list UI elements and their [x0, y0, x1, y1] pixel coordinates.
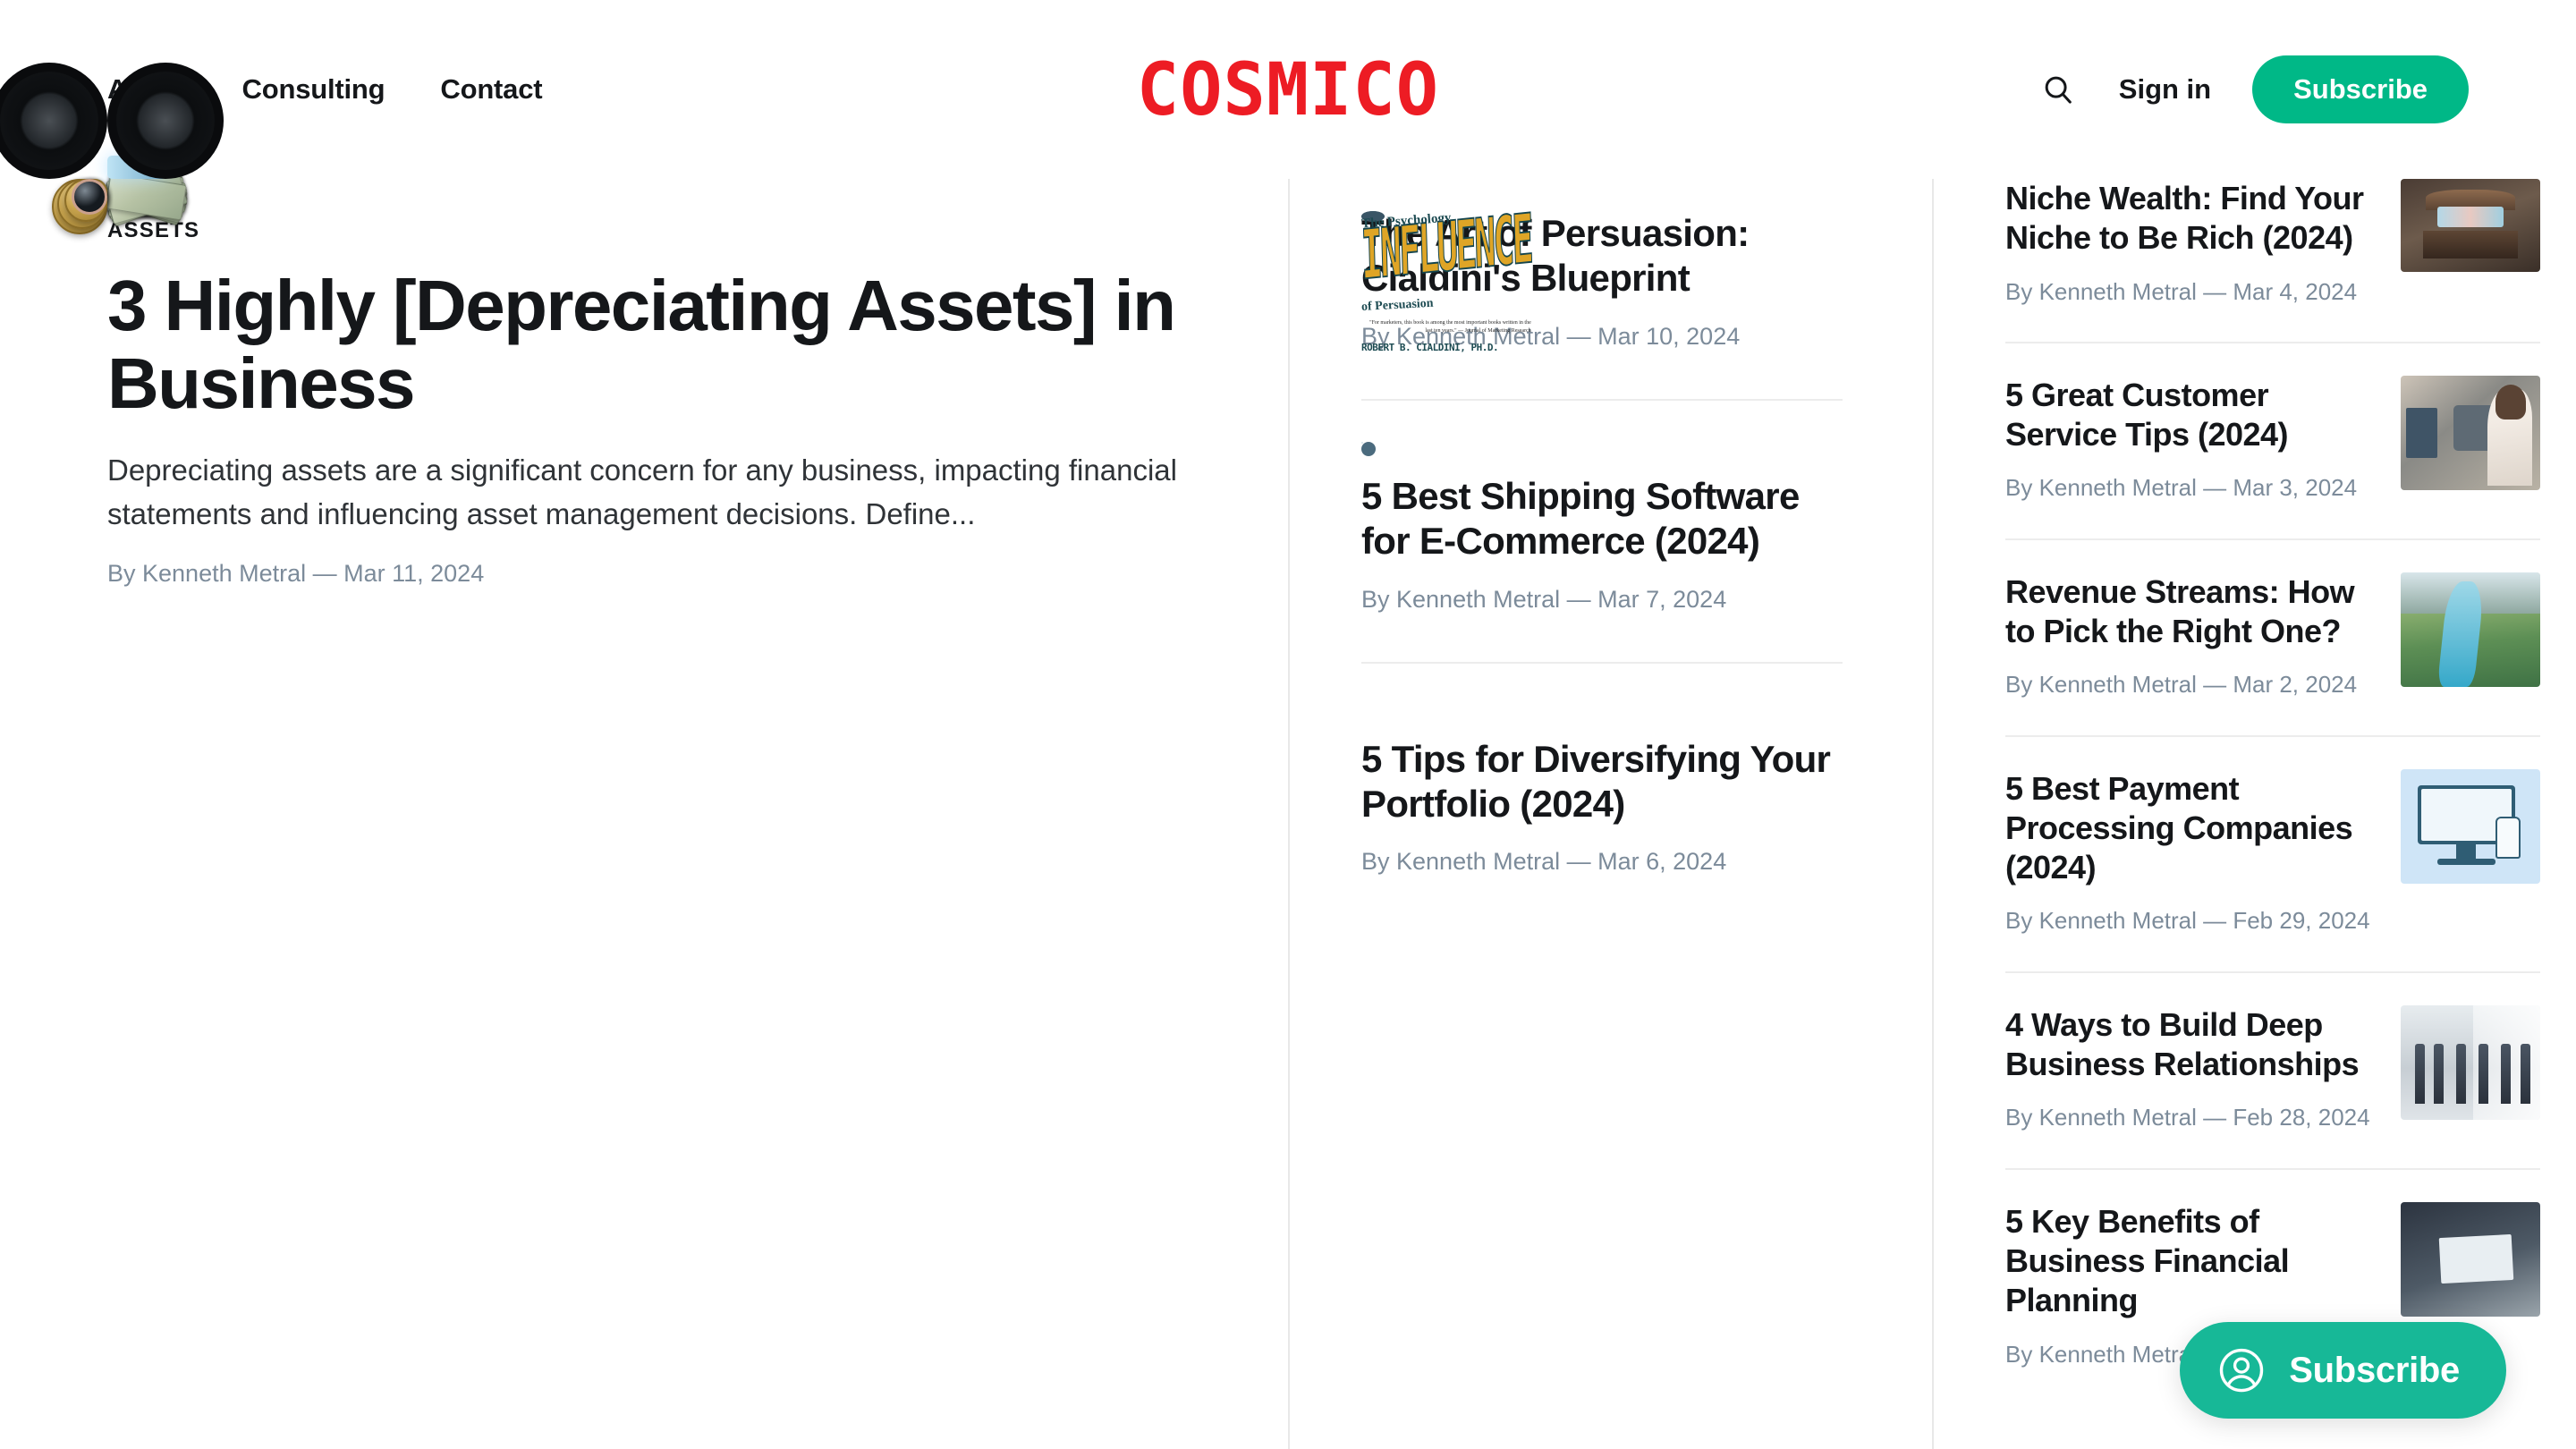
signin-link[interactable]: Sign in	[2119, 73, 2211, 106]
content-grid: $ $ $ $ $ $ $ $ $ $ $	[0, 179, 2576, 1449]
featured-article-excerpt: Depreciating assets are a significant co…	[107, 449, 1216, 537]
article-title[interactable]: 5 Tips for Diversifying Your Portfolio (…	[1361, 737, 1843, 827]
sidebar-article-meta: By Kenneth Metral — Mar 3, 2024	[2005, 472, 2370, 504]
sidebar-article-title[interactable]: Niche Wealth: Find Your Niche to Be Rich…	[2005, 179, 2370, 258]
nav-item-consulting[interactable]: Consulting	[242, 73, 386, 106]
sidebar-article-meta: By Kenneth Metral — Feb 29, 2024	[2005, 905, 2370, 936]
featured-article-title[interactable]: 3 Highly [Depreciating Assets] in Busine…	[107, 267, 1216, 422]
featured-article-tag[interactable]: ASSETS	[107, 218, 1216, 243]
sidebar-article-card[interactable]: Niche Wealth: Find Your Niche to Be Rich…	[2005, 179, 2540, 342]
portal-subscribe-button[interactable]: Subscribe	[2180, 1322, 2506, 1419]
sidebar-article-card[interactable]: Revenue Streams: How to Pick the Right O…	[2005, 538, 2540, 735]
article-card: 5 Tips for Diversifying Your Portfolio (…	[1361, 662, 1843, 925]
header-actions: Sign in Subscribe	[2038, 55, 2469, 123]
sidebar-article-title[interactable]: 5 Key Benefits of Business Financial Pla…	[2005, 1202, 2370, 1321]
middle-article-column: The Psychology INFLUENCE of Persuasion "…	[1288, 179, 1896, 1449]
brand-wordmark: COSMICO	[1137, 53, 1439, 125]
article-card: 5 Best Shipping Software for E-Commerce …	[1361, 399, 1843, 662]
sidebar-article-card[interactable]: 4 Ways to Build Deep Business Relationsh…	[2005, 971, 2540, 1168]
site-header: About Consulting Contact COSMICO Sign in…	[0, 0, 2576, 179]
sidebar-article-title[interactable]: 5 Best Payment Processing Companies (202…	[2005, 769, 2370, 888]
sidebar-article-meta: By Kenneth Metral — Mar 2, 2024	[2005, 669, 2370, 700]
article-card: The Psychology INFLUENCE of Persuasion "…	[1361, 211, 1843, 399]
sidebar-article-thumbnail[interactable]	[2401, 572, 2540, 687]
featured-article-meta: By Kenneth Metral — Mar 11, 2024	[107, 560, 1216, 588]
nav-item-contact[interactable]: Contact	[440, 73, 542, 106]
sidebar-article-thumbnail[interactable]	[2401, 376, 2540, 490]
subscribe-button[interactable]: Subscribe	[2252, 55, 2469, 123]
article-meta: By Kenneth Metral — Mar 6, 2024	[1361, 848, 1843, 876]
sidebar-article-thumbnail[interactable]	[2401, 1005, 2540, 1120]
sidebar-article-title[interactable]: 4 Ways to Build Deep Business Relationsh…	[2005, 1005, 2370, 1085]
article-title[interactable]: 5 Best Shipping Software for E-Commerce …	[1361, 474, 1843, 564]
sidebar-article-thumbnail[interactable]	[2401, 179, 2540, 272]
sidebar-article-title[interactable]: 5 Great Customer Service Tips (2024)	[2005, 376, 2370, 455]
sidebar-article-meta: By Kenneth Metral — Mar 4, 2024	[2005, 276, 2370, 308]
featured-article-column: $ $ $ $ $ $ $ $ $ $ $	[107, 179, 1288, 1449]
sidebar-article-thumbnail[interactable]	[2401, 1202, 2540, 1317]
sidebar-article-card[interactable]: 5 Best Payment Processing Companies (202…	[2005, 735, 2540, 971]
latest-articles-sidebar: Niche Wealth: Find Your Niche to Be Rich…	[1932, 179, 2540, 1449]
portal-subscribe-label: Subscribe	[2289, 1351, 2460, 1391]
user-avatar-icon	[2217, 1346, 2266, 1394]
site-logo[interactable]: COSMICO	[1153, 58, 1423, 121]
article-meta: By Kenneth Metral — Mar 7, 2024	[1361, 586, 1843, 614]
search-button[interactable]	[2038, 70, 2078, 109]
sidebar-article-meta: By Kenneth Metral — Feb 28, 2024	[2005, 1102, 2370, 1133]
search-icon	[2041, 72, 2075, 106]
sidebar-article-thumbnail[interactable]	[2401, 769, 2540, 884]
sidebar-article-card[interactable]: 5 Great Customer Service Tips (2024) By …	[2005, 342, 2540, 538]
sidebar-article-title[interactable]: Revenue Streams: How to Pick the Right O…	[2005, 572, 2370, 652]
